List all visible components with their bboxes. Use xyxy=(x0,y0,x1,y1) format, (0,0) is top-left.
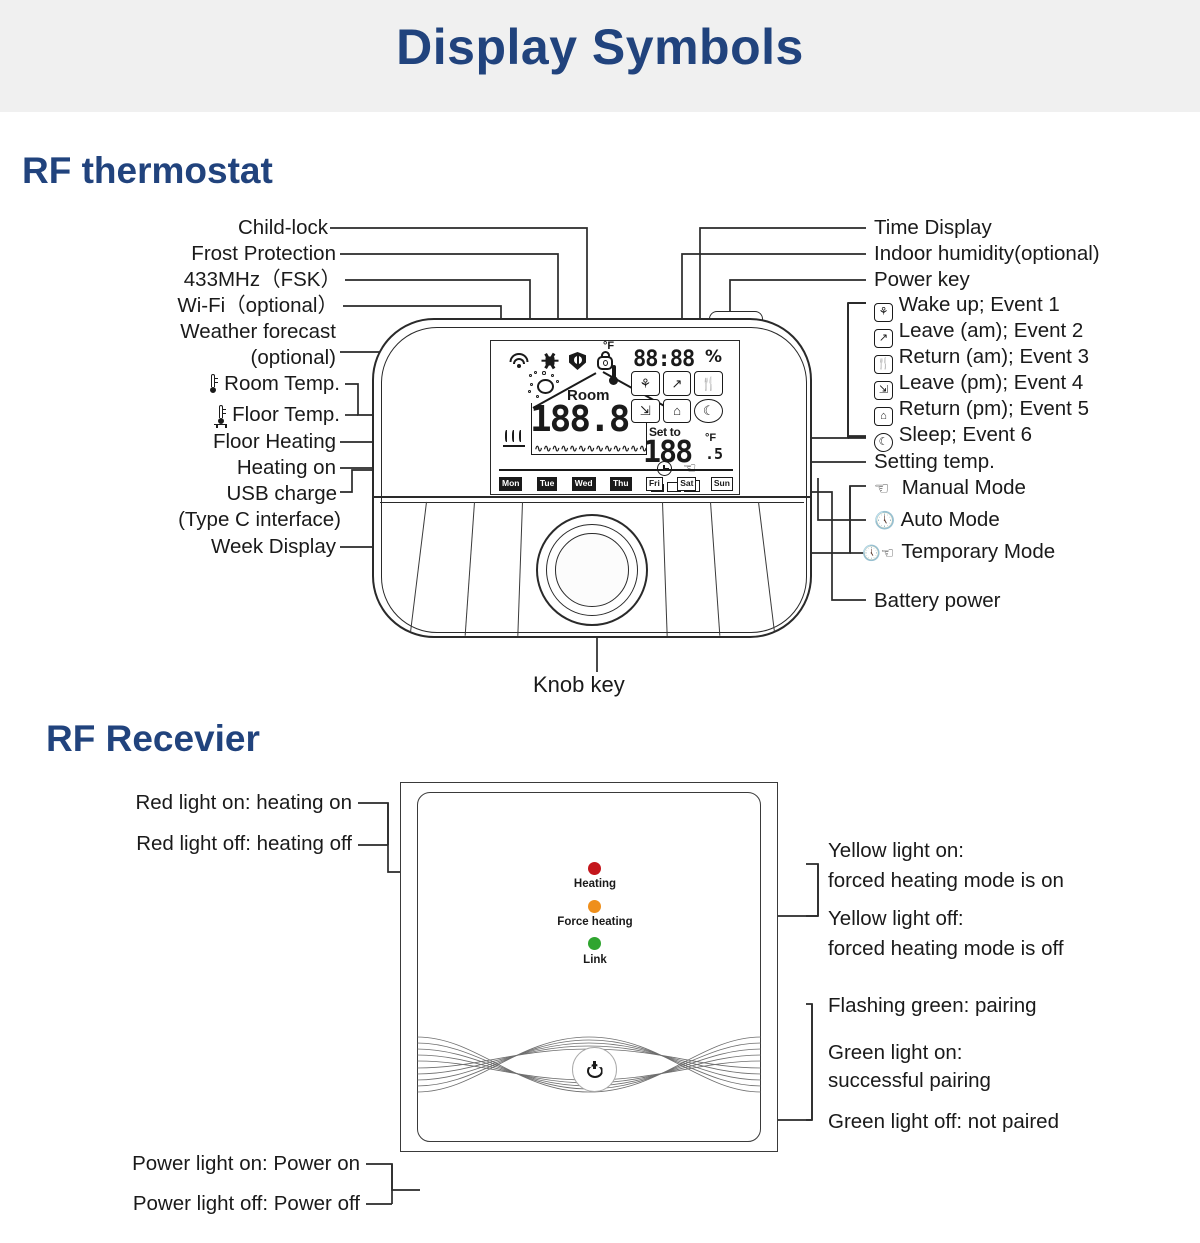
label-auto-mode: 🕔 Auto Mode xyxy=(874,507,1000,534)
return-am-icon: 🍴 xyxy=(694,371,723,396)
led-label-link: Link xyxy=(548,954,642,966)
label-indoor-humidity: Indoor humidity(optional) xyxy=(874,241,1100,267)
label-red-light-on: Red light on: heating on xyxy=(0,790,352,816)
weekday-thu: Thu xyxy=(610,477,632,491)
power-icon xyxy=(587,1061,603,1078)
thermostat-device: 88:88 % Room 188.8 xyxy=(372,318,812,638)
label-knob-key: Knob key xyxy=(533,672,625,698)
wifi-icon xyxy=(509,353,529,368)
lcd-display: 88:88 % Room 188.8 xyxy=(490,340,740,495)
label-weather-forecast-optional: (optional) xyxy=(0,345,336,371)
knob-inner-face xyxy=(555,533,629,607)
label-room-temp-text: Room Temp. xyxy=(224,372,340,395)
knob-key[interactable] xyxy=(536,514,648,626)
lcd-event-icon-grid: ⚘ ↗ 🍴 ⇲ ⌂ ☾ xyxy=(631,371,723,423)
label-frost-protection: Frost Protection xyxy=(0,241,336,267)
led-force-heating xyxy=(588,900,601,913)
led-link xyxy=(588,937,601,950)
clock-hand-icon: 🕔☜ xyxy=(862,541,896,567)
label-manual-mode-text: Manual Mode xyxy=(902,476,1026,499)
sleep-icon: ☾ xyxy=(694,399,723,424)
weekday-sun: Sun xyxy=(711,477,733,491)
weekday-tue: Tue xyxy=(537,477,557,491)
return-pm-icon: ⌂ xyxy=(663,399,692,424)
lcd-status-icon-row xyxy=(509,349,619,369)
lcd-room-temperature-unit: °F xyxy=(603,341,614,352)
label-setting-temp: Setting temp. xyxy=(874,449,995,475)
label-time-display: Time Display xyxy=(874,215,992,241)
clock-icon: 🕔 xyxy=(874,508,896,534)
leave-pm-icon: ⇲ xyxy=(631,399,660,424)
label-floor-temp: Floor Temp. xyxy=(0,402,340,428)
led-heating xyxy=(588,862,601,875)
heating-on-wave-icon: ∿∿∿∿∿∿∿∿∿∿∿∿∿∿ xyxy=(534,442,646,452)
weekday-sat: Sat xyxy=(677,477,696,491)
humidity-symbol: % xyxy=(705,347,722,367)
wake-up-icon: ⚘ xyxy=(631,371,660,396)
floor-thermometer-icon xyxy=(215,405,226,424)
label-temporary-mode: 🕔☜ Temporary Mode xyxy=(862,539,1055,567)
label-wifi-optional: Wi-Fi（optional） xyxy=(0,293,338,319)
label-event-1-text: Wake up; Event 1 xyxy=(899,293,1060,316)
label-red-light-off: Red light off: heating off xyxy=(0,831,352,857)
label-usb-charge: USB charge xyxy=(0,481,337,507)
weekday-fri: Fri xyxy=(646,477,663,491)
label-yellow-light-on-desc: forced heating mode is on xyxy=(828,868,1064,894)
label-green-light-on-desc: successful pairing xyxy=(828,1068,991,1094)
page-title: Display Symbols xyxy=(0,18,1200,76)
floor-heating-icon xyxy=(503,429,525,447)
label-green-light-on: Green light on: xyxy=(828,1040,962,1066)
label-floor-heating: Floor Heating xyxy=(0,429,336,455)
label-room-temp: Room Temp. xyxy=(0,371,340,397)
lcd-week-underline xyxy=(499,469,733,471)
weekday-wed: Wed xyxy=(572,477,596,491)
label-floor-temp-text: Floor Temp. xyxy=(232,403,340,426)
label-week-display: Week Display xyxy=(0,534,336,560)
section-heading-thermostat: RF thermostat xyxy=(22,150,273,192)
label-433mhz: 433MHz（FSK） xyxy=(0,267,341,293)
leave-am-icon: ↗ xyxy=(663,371,692,396)
label-power-light-on: Power light on: Power on xyxy=(0,1151,360,1177)
led-label-heating: Heating xyxy=(548,878,642,890)
label-event-5-text: Return (pm); Event 5 xyxy=(899,397,1089,420)
label-event-6-text: Sleep; Event 6 xyxy=(899,423,1032,446)
label-heating-on: Heating on xyxy=(0,455,336,481)
hand-icon: ☜ xyxy=(874,476,896,502)
label-battery-power: Battery power xyxy=(874,588,1000,614)
lcd-room-temperature: 188.8 xyxy=(530,399,628,440)
label-child-lock: Child-lock xyxy=(0,215,328,241)
label-yellow-light-on: Yellow light on: xyxy=(828,838,964,864)
label-event-6: ☾ Sleep; Event 6 xyxy=(874,422,1032,452)
lcd-thermometer-icon xyxy=(609,365,618,385)
label-type-c-interface: (Type C interface) xyxy=(0,507,341,533)
label-event-3-text: Return (am); Event 3 xyxy=(899,345,1089,368)
label-yellow-light-off: Yellow light off: xyxy=(828,906,964,932)
label-auto-mode-text: Auto Mode xyxy=(901,508,1000,531)
weather-icon xyxy=(539,352,560,369)
label-flashing-green: Flashing green: pairing xyxy=(828,993,1037,1019)
lcd-set-temperature-unit: °F xyxy=(705,433,716,444)
led-label-force-heating: Force heating xyxy=(548,916,642,928)
label-event-2-text: Leave (am); Event 2 xyxy=(899,319,1084,342)
receiver-power-button[interactable] xyxy=(572,1047,617,1092)
section-heading-receiver: RF Recevier xyxy=(46,718,260,760)
label-power-key: Power key xyxy=(874,267,970,293)
label-manual-mode: ☜ Manual Mode xyxy=(874,475,1026,502)
frost-shield-icon xyxy=(569,352,586,370)
humidity-icon: % xyxy=(705,348,720,366)
label-green-light-off: Green light off: not paired xyxy=(828,1109,1059,1135)
thermometer-icon xyxy=(207,374,218,393)
weekday-mon: Mon xyxy=(499,477,522,491)
label-weather-forecast: Weather forecast xyxy=(0,319,336,345)
label-event-4-text: Leave (pm); Event 4 xyxy=(899,371,1084,394)
label-power-light-off: Power light off: Power off xyxy=(0,1191,360,1217)
label-yellow-light-off-desc: forced heating mode is off xyxy=(828,936,1064,962)
label-temporary-mode-text: Temporary Mode xyxy=(901,540,1055,563)
receiver-device: Heating Force heating Link xyxy=(400,782,778,1152)
lcd-room-temperature-block: 188.8 ∿∿∿∿∿∿∿∿∿∿∿∿∿∿ xyxy=(531,403,647,455)
lcd-weekday-row: Mon Tue Wed Thu Fri Sat Sun xyxy=(499,477,733,491)
